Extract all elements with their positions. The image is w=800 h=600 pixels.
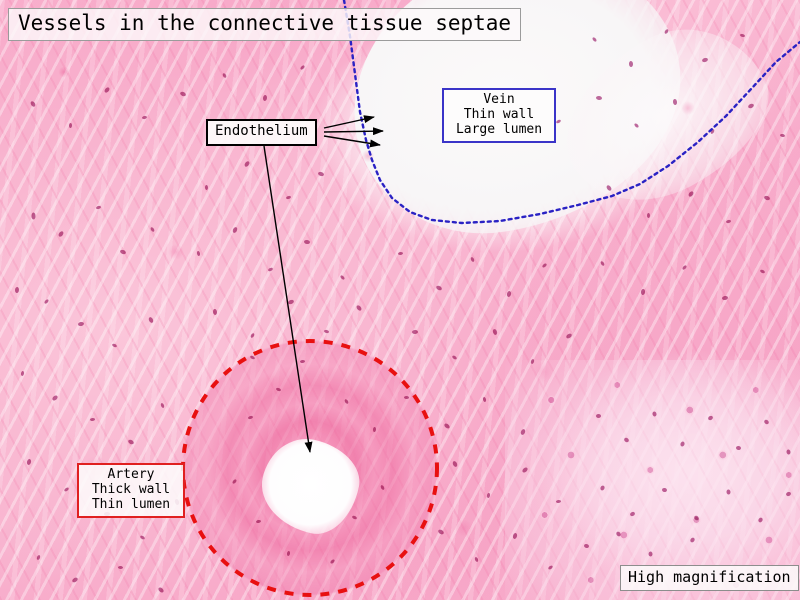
endothelium-arrow-vein-mid bbox=[324, 131, 383, 132]
page-title: Vessels in the connective tissue septae bbox=[8, 8, 521, 41]
endothelium-arrow-vein-top bbox=[324, 117, 374, 128]
endothelium-arrow-artery bbox=[264, 146, 310, 452]
endothelium-callout-label: Endothelium bbox=[206, 119, 317, 146]
endothelium-arrow-vein-low bbox=[324, 136, 380, 145]
pointer-arrows bbox=[264, 117, 383, 452]
artery-outline bbox=[183, 341, 437, 595]
artery-callout-label: Artery Thick wall Thin lumen bbox=[77, 463, 185, 518]
histology-slide-image: Vessels in the connective tissue septae … bbox=[0, 0, 800, 600]
vein-callout-label: Vein Thin wall Large lumen bbox=[442, 88, 556, 143]
magnification-label: High magnification bbox=[620, 565, 799, 591]
